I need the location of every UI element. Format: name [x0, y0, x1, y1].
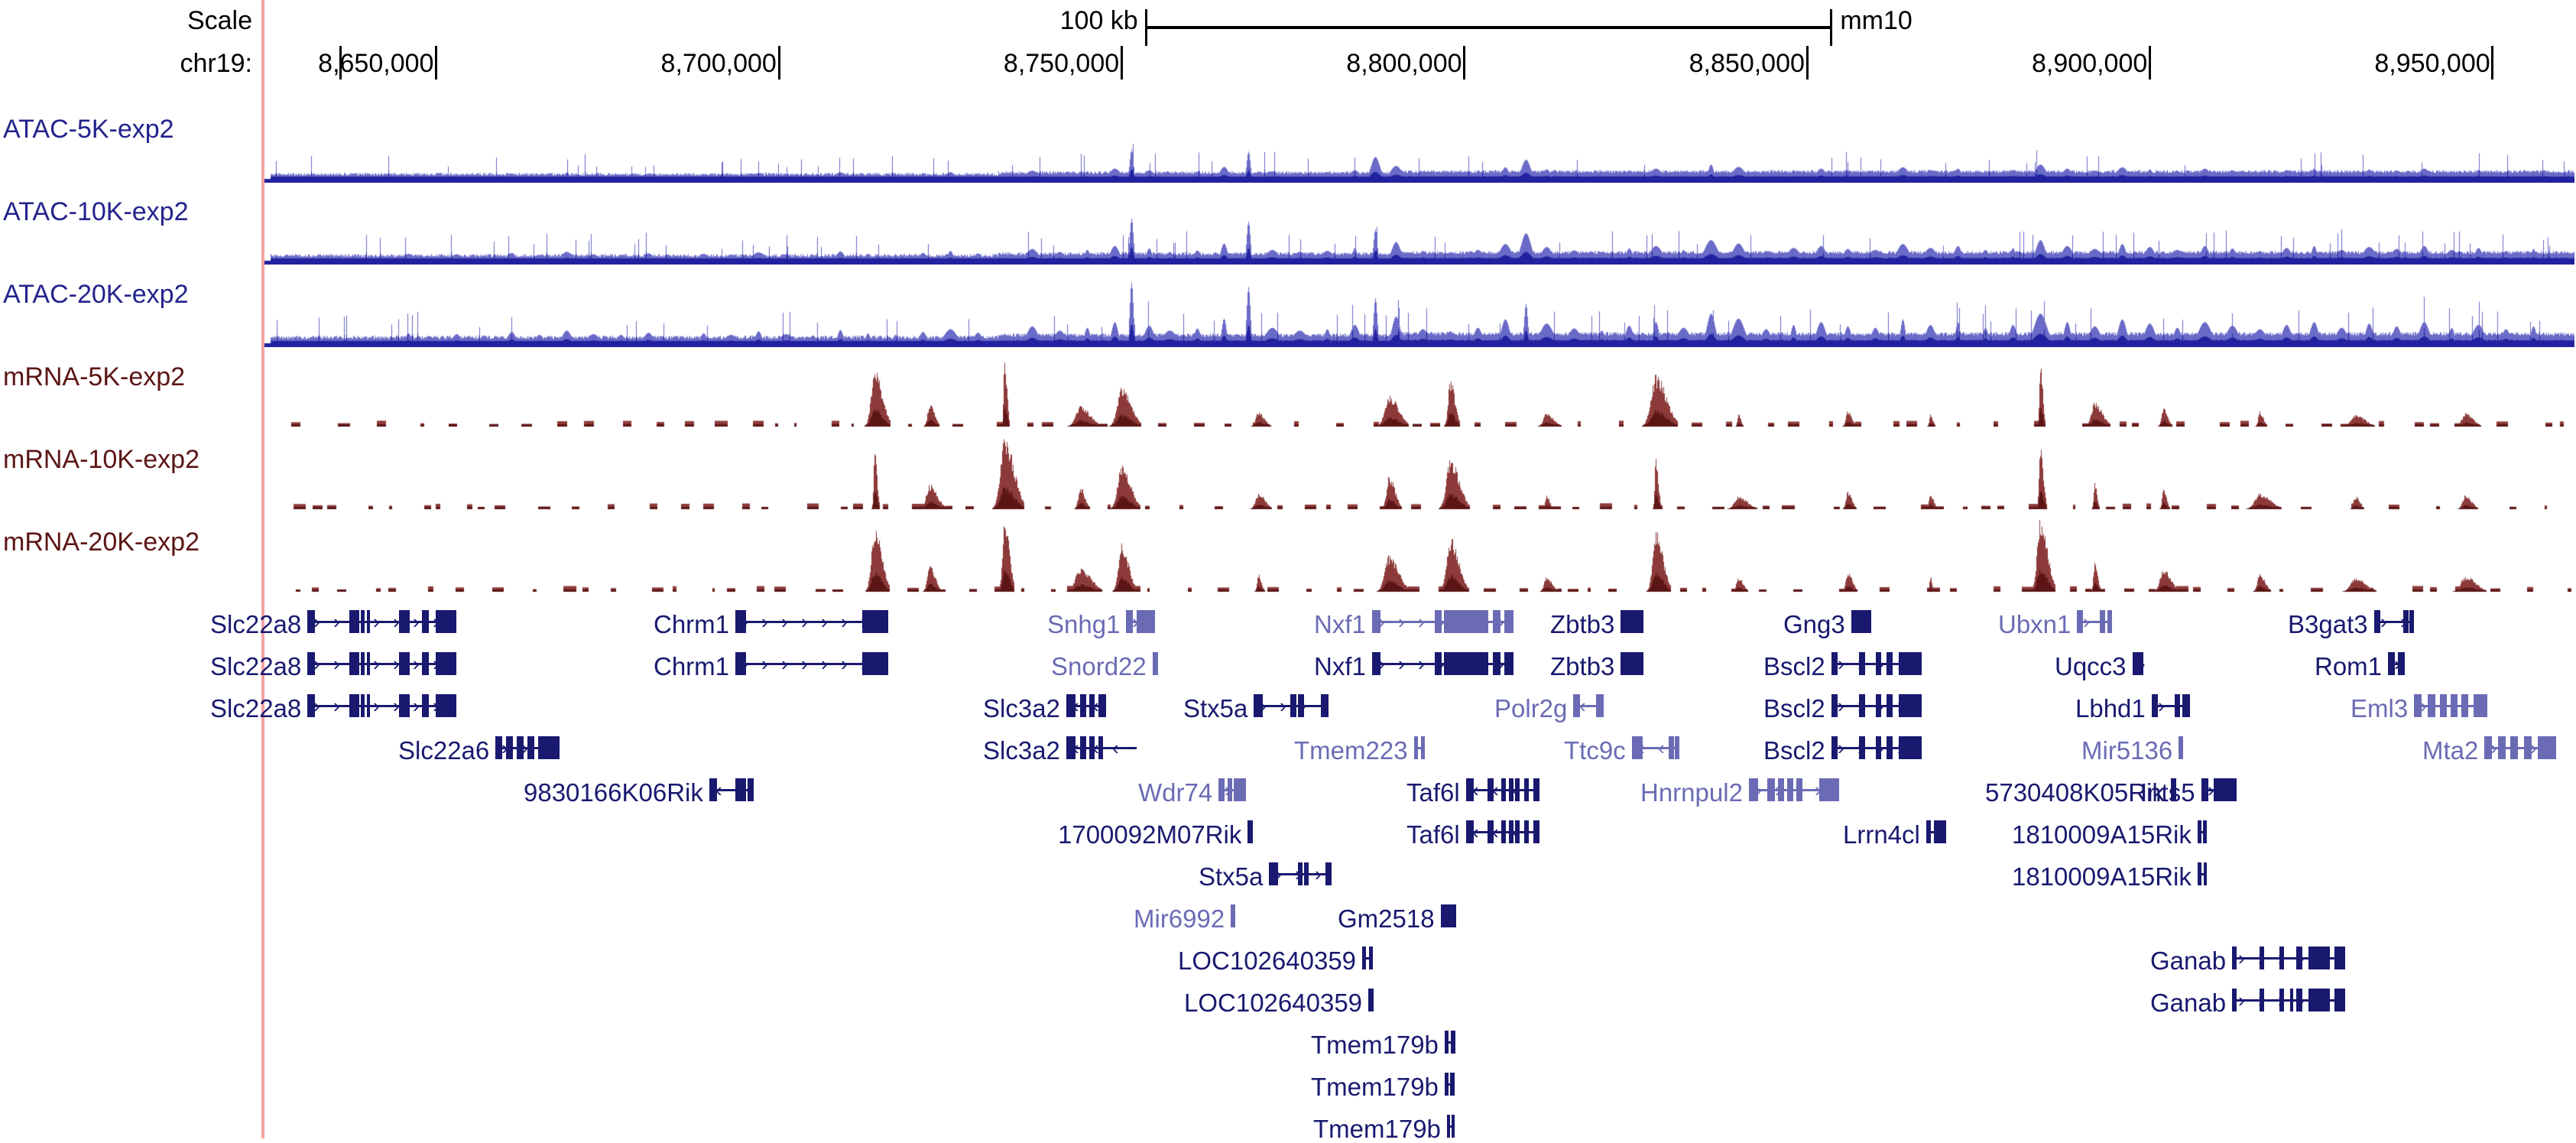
strand-arrow-icon: › [841, 654, 848, 674]
gene-exon [2296, 947, 2302, 969]
gene-exon [2440, 694, 2447, 717]
gene-exon [2198, 820, 2201, 843]
gene-exon [1504, 652, 1513, 675]
gene-exon [1876, 736, 1881, 759]
gene-feature[interactable] [1445, 1073, 1455, 1096]
gene-name-label[interactable]: LOC102640359 [1184, 990, 1362, 1015]
gene-exon [2279, 989, 2284, 1011]
gene-feature[interactable]: ›››› [1749, 778, 1839, 801]
scale-label: Scale [0, 8, 252, 34]
gene-name-label[interactable]: Hnrnpul2 [1640, 780, 1743, 805]
gene-name-label[interactable]: Ganab [2150, 990, 2226, 1015]
gene-name-label[interactable]: Slc3a2 [983, 696, 1060, 721]
gene-exon [355, 610, 359, 633]
track-label-mrna-5k-exp2[interactable]: mRNA-5K-exp2 [3, 362, 185, 392]
gene-exon [1533, 778, 1539, 801]
gene-exon [1098, 736, 1103, 759]
gene-exon [1441, 904, 1456, 927]
chrom-label: chr19: [0, 50, 252, 76]
strand-arrow-icon: › [2083, 612, 2090, 632]
gene-feature[interactable] [1445, 1031, 1455, 1054]
gene-exon [1515, 778, 1520, 801]
gene-exon [2232, 989, 2237, 1011]
gene-exon [1859, 736, 1865, 759]
ruler-tick-mark [435, 46, 437, 80]
gene-exon [1767, 778, 1775, 801]
gene-name-label[interactable]: Nxf1 [1314, 612, 1366, 637]
gene-name-label[interactable]: Uqcc3 [2055, 654, 2127, 679]
gene-exon [1524, 778, 1529, 801]
gene-exon [2198, 862, 2201, 885]
gene-exon [1435, 652, 1442, 675]
gene-exon [1524, 820, 1529, 843]
strand-arrow-icon: › [1398, 612, 1405, 632]
gene-exon [2175, 694, 2180, 717]
gene-exon [709, 778, 717, 801]
signal-track-atac-10k-exp2[interactable] [264, 200, 2574, 265]
gene-name-label[interactable]: Wdr74 [1138, 780, 1212, 805]
gene-feature[interactable]: ››››››› [735, 610, 888, 633]
gene-exon [2428, 694, 2435, 717]
gene-name-label[interactable]: Gm2518 [1338, 906, 1435, 931]
gene-exon [2538, 736, 2556, 759]
gene-feature[interactable]: › [1621, 652, 1643, 675]
strand-arrow-icon: › [373, 612, 380, 632]
gene-name-label[interactable]: Bscl2 [1763, 696, 1825, 721]
gene-name-label[interactable]: Nxf1 [1314, 654, 1366, 679]
gene-feature[interactable]: ››››› [2232, 989, 2345, 1011]
gene-feature[interactable] [1231, 904, 1235, 927]
gene-feature[interactable]: › [2201, 778, 2237, 801]
gene-exon [2524, 736, 2532, 759]
gene-exon [862, 652, 888, 675]
gene-name-label[interactable]: Chrm1 [654, 612, 729, 637]
gene-exon [1298, 862, 1303, 885]
gene-exon [1466, 778, 1474, 801]
gene-exon [1934, 820, 1946, 843]
ruler-tick-mark [339, 46, 342, 80]
gene-exon [1466, 820, 1474, 843]
gene-name-label[interactable]: 5730408K05Rik [1985, 780, 2165, 805]
scale-bar-length-label: 100 kb [1060, 8, 1138, 34]
gene-exon [1501, 820, 1506, 843]
gene-exon [2182, 694, 2190, 717]
gene-exon [1596, 694, 1604, 717]
gene-exon [1787, 778, 1793, 801]
gene-exon [422, 610, 429, 633]
gene-name-label[interactable]: Ganab [2150, 948, 2226, 973]
strand-arrow-icon: › [1838, 696, 1844, 716]
gene-name-label[interactable]: Rom1 [2315, 654, 2382, 679]
gene-feature[interactable]: ›››› [1831, 652, 1922, 675]
gene-exon [2308, 989, 2330, 1011]
gene-exon [1066, 736, 1075, 759]
gene-exon [2403, 610, 2409, 633]
gene-exon [527, 736, 534, 759]
gene-exon [1887, 694, 1893, 717]
gene-exon [1899, 736, 1922, 759]
strand-arrow-icon: › [2158, 696, 2165, 716]
gene-feature[interactable]: ››› [2414, 694, 2487, 717]
scale-bar-end-cap [1830, 9, 1832, 46]
strand-arrow-icon: › [2380, 612, 2387, 632]
gene-feature[interactable]: › [1218, 778, 1246, 801]
track-label-mrna-20k-exp2[interactable]: mRNA-20K-exp2 [3, 528, 200, 557]
gene-feature[interactable]: ››››› [2232, 947, 2345, 969]
gene-feature[interactable]: ›››› [1831, 736, 1922, 759]
ruler-tick-label: 8,750,000 [1004, 50, 1119, 76]
strand-arrow-icon: › [761, 612, 768, 632]
gene-exon [1632, 736, 1643, 759]
gene-exon [2474, 694, 2487, 717]
track-label-mrna-10k-exp2[interactable]: mRNA-10K-exp2 [3, 445, 200, 475]
gene-exon [361, 610, 365, 633]
gene-exon [1080, 694, 1086, 717]
gene-exon [307, 694, 315, 717]
gene-feature[interactable] [1368, 989, 1374, 1011]
strand-arrow-icon: › [333, 612, 340, 632]
gene-name-label[interactable]: Stx5a [1199, 864, 1263, 889]
gene-exon [2484, 736, 2492, 759]
ruler-tick-mark [1806, 46, 1809, 80]
gene-name-label[interactable]: Snhg1 [1047, 612, 1120, 637]
gene-name-label[interactable]: Slc22a8 [210, 654, 301, 679]
gene-name-label[interactable]: Bscl2 [1763, 738, 1825, 763]
gene-name-label[interactable]: Tmem179b [1311, 1032, 1439, 1057]
gene-feature[interactable]: ››› [2484, 736, 2556, 759]
gene-exon [2398, 652, 2405, 675]
gene-exon [2077, 610, 2083, 633]
gene-exon [1859, 694, 1865, 717]
gene-exon [2296, 989, 2302, 1011]
gene-exon [307, 610, 315, 633]
gene-exon [1851, 610, 1871, 633]
track-label-atac-5k-exp2[interactable]: ATAC-5K-exp2 [3, 115, 174, 144]
gene-exon [405, 652, 410, 675]
gene-exon [1831, 736, 1838, 759]
gene-exon [1066, 694, 1075, 717]
gene-name-label[interactable]: Zbtb3 [1550, 612, 1614, 637]
ruler-tick-label: 8,700,000 [661, 50, 777, 76]
gene-exon [405, 694, 410, 717]
gene-feature[interactable]: ‹‹‹ [1466, 778, 1539, 801]
gene-feature[interactable]: › [2152, 694, 2190, 717]
gene-name-label[interactable]: Gng3 [1783, 612, 1845, 637]
gene-exon [1876, 652, 1881, 675]
strand-arrow-icon: › [1838, 654, 1844, 674]
gene-feature[interactable] [2198, 820, 2207, 843]
gene-name-label[interactable]: Zbtb3 [1550, 654, 1614, 679]
gene-exon [2107, 610, 2112, 633]
gene-exon [367, 610, 370, 633]
gene-feature[interactable] [2179, 736, 2183, 759]
strand-arrow-icon: › [1280, 696, 1286, 716]
gene-name-label[interactable]: Slc22a8 [210, 696, 301, 721]
gene-exon [2279, 947, 2284, 969]
gene-feature[interactable] [1153, 652, 1158, 675]
gene-feature[interactable]: ››››››› [1372, 652, 1513, 675]
gene-name-label[interactable]: Taf6l [1406, 780, 1460, 805]
gene-feature[interactable] [1926, 820, 1946, 843]
gene-feature[interactable] [1247, 820, 1253, 843]
gene-exon [1234, 778, 1246, 801]
strand-arrow-icon: › [781, 654, 788, 674]
gene-exon [748, 778, 754, 801]
strand-arrow-icon: ‹ [1658, 738, 1665, 758]
gene-exon [735, 652, 746, 675]
gene-exon [1450, 1073, 1455, 1096]
signal-track-atac-20k-exp2[interactable] [264, 273, 2574, 347]
gene-name-label[interactable]: Stx5a [1183, 696, 1247, 721]
track-label-atac-20k-exp2[interactable]: ATAC-20K-exp2 [3, 280, 189, 310]
signal-track-mrna-20k-exp2[interactable] [264, 518, 2574, 596]
signal-track-mrna-10k-exp2[interactable] [264, 436, 2574, 513]
gene-feature[interactable]: ››› [1254, 694, 1329, 717]
gene-name-label[interactable]: Tmem179b [1313, 1116, 1441, 1141]
gene-exon [1153, 652, 1158, 675]
gene-feature[interactable]: ››››››› [307, 610, 456, 633]
gene-feature[interactable]: ‹ [1573, 694, 1604, 717]
gene-feature[interactable]: ‹‹ [1066, 694, 1106, 717]
gene-exon [517, 736, 524, 759]
gene-exon [436, 652, 456, 675]
gene-exon [1089, 694, 1095, 717]
genome-assembly-label: mm10 [1840, 8, 1912, 34]
gene-exon [2152, 694, 2158, 717]
gene-exon [1504, 610, 1513, 633]
gene-feature[interactable]: ›››› [1831, 694, 1922, 717]
gene-exon [1231, 904, 1235, 927]
gene-exon [1621, 652, 1643, 675]
gene-exon [1899, 694, 1922, 717]
gene-exon [1414, 736, 1418, 759]
gene-exon [1269, 862, 1278, 885]
gene-exon [1435, 610, 1442, 633]
gene-feature[interactable]: › [2133, 652, 2143, 675]
strand-arrow-icon: › [373, 654, 380, 674]
gene-feature[interactable]: ‹‹‹ [1066, 736, 1137, 759]
gene-exon [1447, 1115, 1450, 1138]
gene-feature[interactable]: › [2388, 652, 2405, 675]
strand-arrow-icon: › [801, 612, 808, 632]
gene-exon [1089, 736, 1095, 759]
gene-feature[interactable]: › [1621, 610, 1643, 633]
gene-exon [2260, 947, 2264, 969]
scale-bar-start-cap [1145, 9, 1147, 46]
gene-name-label[interactable]: Taf6l [1406, 822, 1460, 847]
gene-feature[interactable]: ‹‹ [1632, 736, 1679, 759]
gene-exon [1298, 694, 1304, 717]
gene-feature[interactable] [2198, 862, 2207, 885]
gene-exon [1887, 736, 1893, 759]
gene-exon [1796, 778, 1802, 801]
gene-exon [1859, 652, 1865, 675]
gene-name-label[interactable]: LOC102640359 [1178, 948, 1356, 973]
gene-exon [1247, 820, 1253, 843]
gene-name-label[interactable]: Ttc9c [1564, 738, 1626, 763]
gene-exon [405, 610, 410, 633]
gene-exon [1369, 947, 1373, 969]
gene-feature[interactable]: ‹‹ [709, 778, 754, 801]
gene-exon [1290, 694, 1296, 717]
gene-name-label[interactable]: Slc3a2 [983, 738, 1060, 763]
signal-track-mrna-5k-exp2[interactable] [264, 353, 2574, 430]
gene-exon [1831, 694, 1838, 717]
gene-feature[interactable] [1362, 947, 1373, 969]
gene-feature[interactable] [1414, 736, 1425, 759]
gene-name-label[interactable]: Lrrn4cl [1843, 822, 1920, 847]
gene-exon [1372, 610, 1380, 633]
gene-feature[interactable]: › [1126, 610, 1155, 633]
ruler-tick-mark [1121, 46, 1123, 80]
gene-name-label[interactable]: Ubxn1 [1998, 612, 2071, 637]
strand-arrow-icon: › [1398, 654, 1405, 674]
gene-feature[interactable]: ›› [2374, 610, 2414, 633]
strand-arrow-icon: › [801, 654, 808, 674]
signal-track-atac-5k-exp2[interactable] [264, 124, 2574, 183]
gene-exon [2388, 652, 2395, 675]
gene-feature[interactable]: ››› [495, 736, 560, 759]
gene-name-label[interactable]: Snord22 [1051, 654, 1147, 679]
strand-arrow-icon: › [761, 654, 768, 674]
gene-exon [1749, 778, 1758, 801]
gene-name-label[interactable]: Eml3 [2351, 696, 2408, 721]
gene-exon [1372, 652, 1380, 675]
strand-arrow-icon: › [781, 612, 788, 632]
gene-feature[interactable]: ››››››› [735, 652, 888, 675]
ruler-tick-label: 8,650,000 [318, 50, 433, 76]
gene-exon [1621, 610, 1643, 633]
strand-arrow-icon: › [2238, 990, 2245, 1010]
gene-exon [1515, 820, 1520, 843]
gene-name-label[interactable]: B3gat3 [2288, 612, 2368, 637]
gene-name-label[interactable]: Lbhd1 [2075, 696, 2146, 721]
gene-exon [367, 652, 370, 675]
gene-exon [2179, 736, 2183, 759]
gene-name-label[interactable]: Mir6992 [1134, 906, 1225, 931]
strand-arrow-icon: › [1315, 864, 1322, 884]
gene-name-label[interactable]: Tmem223 [1294, 738, 1408, 763]
gene-exon [1444, 610, 1488, 633]
gene-exon [1451, 1031, 1455, 1054]
gene-name-label[interactable]: 9830166K06Rik [524, 780, 703, 805]
gene-exon [1445, 1031, 1449, 1054]
ruler-tick-mark [2491, 46, 2493, 80]
gene-exon [1362, 947, 1366, 969]
gene-exon [2414, 694, 2422, 717]
gene-exon [367, 694, 370, 717]
strand-arrow-icon: › [373, 696, 380, 716]
gene-exon [2214, 778, 2237, 801]
gene-exon [1573, 694, 1580, 717]
gene-feature[interactable]: ‹‹‹ [1466, 820, 1539, 843]
gene-feature[interactable]: › [1851, 610, 1871, 633]
gene-exon [1325, 862, 1332, 885]
strand-arrow-icon: › [413, 696, 420, 716]
gene-feature[interactable]: › [2077, 610, 2112, 633]
gene-feature[interactable]: ››››››› [1372, 610, 1513, 633]
strand-arrow-icon: › [1418, 654, 1425, 674]
ruler-tick-mark [1463, 46, 1465, 80]
genome-browser: Scale chr19: 100 kb mm10 8,650,0008,700,… [0, 0, 2576, 1138]
gene-name-label[interactable]: 1810009A15Rik [2012, 822, 2192, 847]
gene-exon [2203, 820, 2207, 843]
ruler-tick-label: 8,900,000 [2032, 50, 2147, 76]
strand-arrow-icon: › [821, 612, 828, 632]
gene-name-label[interactable]: 1810009A15Rik [2012, 864, 2192, 889]
gene-exon [355, 652, 359, 675]
gene-name-label[interactable]: Ints5 [2140, 780, 2195, 805]
gene-exon [422, 694, 429, 717]
gene-exon [1452, 1115, 1455, 1138]
gene-name-label[interactable]: Bscl2 [1763, 654, 1825, 679]
gene-exon [862, 610, 888, 633]
gene-name-label[interactable]: Slc22a6 [398, 738, 489, 763]
gene-exon [2334, 989, 2345, 1011]
gene-exon [399, 694, 405, 717]
gene-name-label[interactable]: Polr2g [1494, 696, 1567, 721]
gene-exon [2201, 778, 2208, 801]
gene-exon [422, 652, 429, 675]
ruler-tick-mark [2149, 46, 2151, 80]
gene-exon [2498, 736, 2506, 759]
gene-exon [2451, 694, 2458, 717]
gene-exon [1887, 652, 1893, 675]
gene-exon [1819, 778, 1839, 801]
gene-exon [2204, 862, 2207, 885]
gene-exon [1098, 694, 1106, 717]
gene-exon [2133, 652, 2143, 675]
strand-arrow-icon: › [821, 654, 828, 674]
gene-name-label[interactable]: Slc22a8 [210, 612, 301, 637]
gene-exon [399, 610, 405, 633]
gene-feature[interactable] [1441, 904, 1456, 927]
gene-exon [1899, 652, 1922, 675]
gene-exon [2510, 736, 2518, 759]
gene-feature[interactable]: ››››››› [307, 694, 456, 717]
gene-name-label[interactable]: 1700092M07Rik [1058, 822, 1241, 847]
gene-exon [2260, 989, 2264, 1011]
gene-exon [2461, 694, 2468, 717]
gene-name-label[interactable]: Mir5136 [2081, 738, 2172, 763]
gene-exon [735, 610, 746, 633]
strand-arrow-icon: › [2238, 948, 2245, 968]
gene-name-label[interactable]: Tmem179b [1311, 1074, 1439, 1099]
gene-name-label[interactable]: Chrm1 [654, 654, 729, 679]
gene-exon [1509, 778, 1513, 801]
gene-exon [2290, 989, 2293, 1011]
gene-exon [1488, 820, 1494, 843]
gene-exon [2308, 947, 2330, 969]
gene-feature[interactable]: ››››››› [307, 652, 456, 675]
strand-arrow-icon: ‹ [1579, 696, 1586, 716]
ruler-tick-label: 8,850,000 [1689, 50, 1805, 76]
track-label-atac-10k-exp2[interactable]: ATAC-10K-exp2 [3, 197, 189, 227]
gene-exon [1509, 820, 1513, 843]
gene-exon [2232, 947, 2237, 969]
gene-exon [1533, 820, 1539, 843]
gene-name-label[interactable]: Mta2 [2422, 738, 2478, 763]
gene-feature[interactable] [1447, 1115, 1455, 1138]
gene-feature[interactable]: ››› [1269, 862, 1332, 885]
gene-exon [2334, 947, 2345, 969]
strand-arrow-icon: › [1418, 612, 1425, 632]
gene-exon [1218, 778, 1225, 801]
gene-exon [2374, 610, 2380, 633]
gene-exon [1669, 736, 1674, 759]
gene-exon [1445, 1073, 1449, 1096]
gene-exon [1831, 652, 1838, 675]
